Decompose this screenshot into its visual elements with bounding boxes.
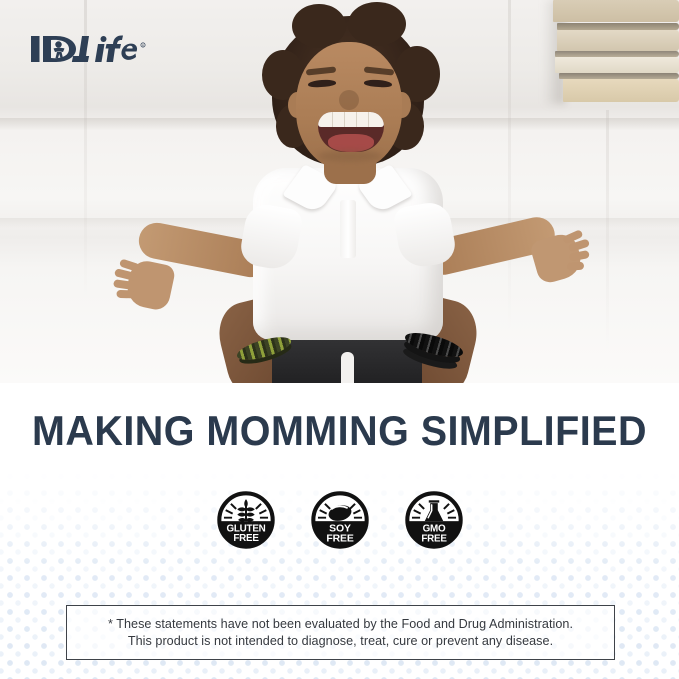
child-nose (339, 90, 359, 110)
lower-content-panel: MAKING MOMMING SIMPLIFIED (0, 383, 679, 679)
idlife-logo-icon: R (30, 33, 148, 65)
gmo-free-badge-icon: GMO FREE (405, 491, 463, 549)
child-shirt-placket (340, 200, 356, 258)
badge-label-line2: FREE (233, 533, 259, 544)
fda-disclaimer-line1: * These statements have not been evaluat… (108, 617, 573, 631)
soy-free-badge-icon: SOY FREE (311, 491, 369, 549)
fda-disclaimer-text: * These statements have not been evaluat… (108, 616, 573, 650)
fda-disclaimer-box: * These statements have not been evaluat… (66, 605, 615, 660)
finger (116, 290, 134, 299)
book (557, 23, 679, 30)
badge-gmo-free: GMO FREE (405, 491, 463, 549)
badge-label-line2: FREE (421, 533, 447, 544)
wall-panel-edge-right (508, 0, 511, 330)
hair-puff (292, 4, 346, 48)
finger (567, 262, 585, 271)
book-stack (553, 0, 679, 102)
book (563, 79, 679, 102)
book (557, 30, 679, 51)
badge-soy-free: SOY FREE (311, 491, 369, 549)
child-mouth (318, 112, 384, 152)
product-image-canvas: R MAKING MOMMING SIMPLIFIED (0, 0, 679, 679)
hero-photo: R (0, 0, 679, 383)
child-shorts-gap (341, 352, 354, 383)
certification-badges: GLUTEN FREE (0, 491, 679, 549)
brand-logo: R (30, 33, 148, 67)
hair-puff (348, 2, 406, 46)
wall-panel-edge-far-right (606, 110, 609, 350)
book (555, 57, 679, 73)
badge-gluten-free: GLUTEN FREE (217, 491, 275, 549)
child-teeth (318, 112, 384, 127)
child-chin-shadow (318, 150, 382, 162)
gluten-free-badge-icon: GLUTEN FREE (217, 491, 275, 549)
page-title: MAKING MOMMING SIMPLIFIED (20, 407, 658, 455)
fda-disclaimer-line2: This product is not intended to diagnose… (128, 634, 553, 648)
book (553, 0, 679, 22)
badge-label-line2: FREE (326, 533, 354, 544)
